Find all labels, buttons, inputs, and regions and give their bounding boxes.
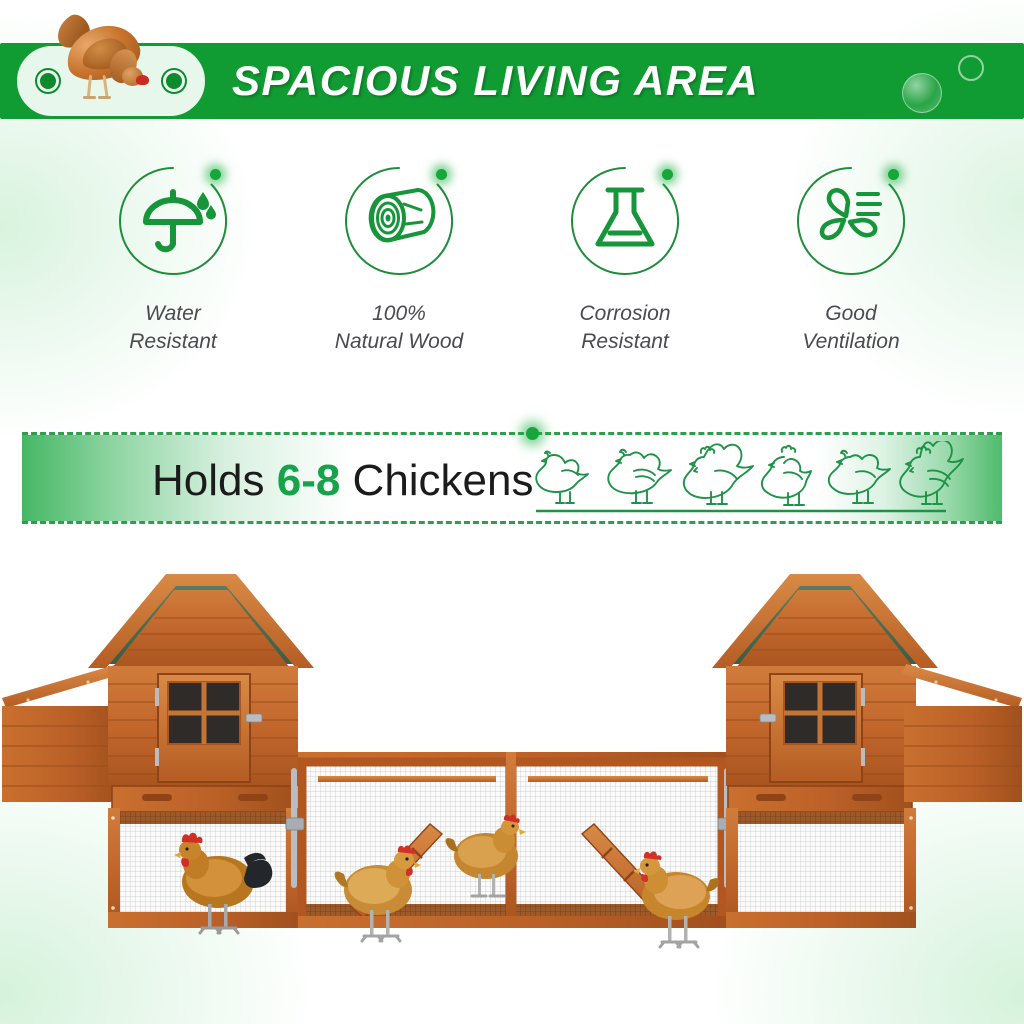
- glow-dot-icon: [662, 169, 673, 180]
- cap-ring-right-icon: [163, 70, 185, 92]
- feature-label: Water Resistant: [129, 300, 217, 357]
- glow-dot-icon: [210, 169, 221, 180]
- chicken-silhouette: [900, 441, 963, 504]
- chicken-silhouette: [536, 452, 588, 504]
- bubble-small-icon: [958, 55, 984, 81]
- product-image: [0, 556, 1024, 976]
- feature-label: Corrosion Resistant: [579, 300, 670, 357]
- left-pull-out-tray: [112, 786, 296, 812]
- capacity-suffix: Chickens: [340, 456, 533, 505]
- capacity-prefix: Holds: [152, 456, 277, 505]
- wood-log-rings-icon: [338, 160, 460, 282]
- umbrella-water-drops-icon: [112, 160, 234, 282]
- chicken-silhouette: [684, 444, 753, 504]
- feature-label: Good Ventilation: [802, 300, 899, 357]
- header-banner: SPACIOUS LIVING AREA: [0, 43, 1024, 119]
- left-window-door: [155, 674, 262, 782]
- chicken-silhouette-row: [534, 441, 964, 525]
- header-title: SPACIOUS LIVING AREA: [232, 43, 759, 119]
- feature-item-corrosion-resistant: Corrosion Resistant: [512, 160, 738, 357]
- feature-item-natural-wood: 100% Natural Wood: [286, 160, 512, 357]
- right-window-door: [760, 674, 865, 782]
- chicken-silhouette: [829, 451, 890, 503]
- cap-ring-left-icon: [37, 70, 59, 92]
- glow-dot-icon: [888, 169, 899, 180]
- right-nesting-box: [902, 664, 1022, 802]
- capacity-count: 6-8: [277, 456, 341, 505]
- header-banner-cap: [15, 44, 207, 118]
- chicken-silhouette: [762, 446, 811, 505]
- fan-ventilation-icon: [790, 160, 912, 282]
- glow-dot-icon: [526, 427, 539, 440]
- live-chicken: [455, 842, 507, 880]
- capacity-text: Holds 6-8 Chickens: [152, 435, 534, 527]
- chicken-silhouette: [608, 450, 671, 503]
- erlenmeyer-flask-icon: [564, 160, 686, 282]
- feature-item-good-ventilation: Good Ventilation: [738, 160, 964, 357]
- right-pull-out-tray: [728, 786, 912, 812]
- feature-item-water-resistant: Water Resistant: [60, 160, 286, 357]
- feature-label: 100% Natural Wood: [335, 300, 463, 357]
- capacity-banner: Holds 6-8 Chickens: [22, 432, 1002, 524]
- bubble-large-icon: [902, 73, 942, 113]
- feature-list: Water Resistant 100% Natural Wood: [60, 160, 964, 357]
- left-nesting-box: [2, 664, 122, 802]
- glow-dot-icon: [436, 169, 447, 180]
